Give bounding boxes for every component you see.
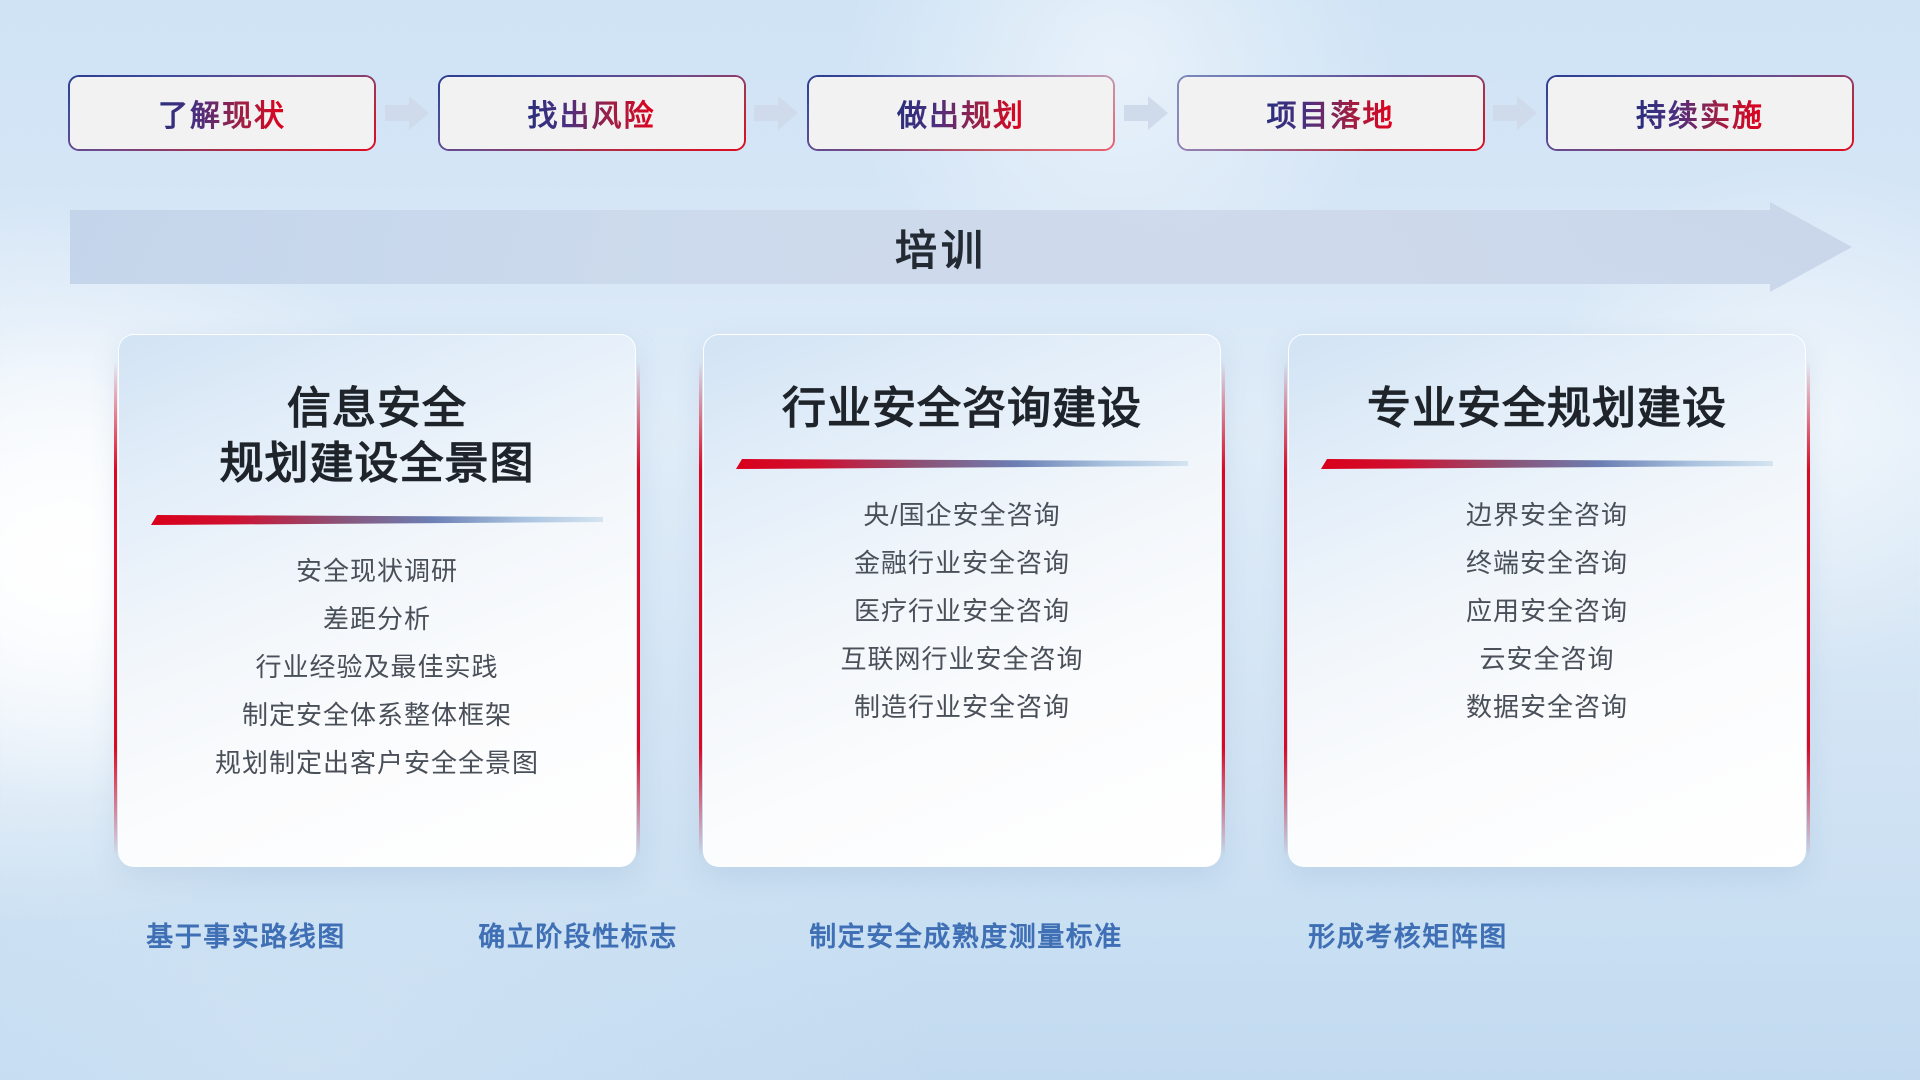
service-card-list-item[interactable]: 央/国企安全咨询: [863, 496, 1060, 535]
flow-step-label: 项目落地: [1267, 91, 1395, 135]
service-card-surface: 信息安全 规划建设全景图安全现状调研差距分析行业经验及最佳实践制定安全体系整体框…: [118, 334, 636, 867]
bottom-caption-2: 确立阶段性标志: [478, 915, 678, 954]
service-card-list-item[interactable]: 医疗行业安全咨询: [854, 592, 1070, 631]
flow-step-label: 做出规划: [897, 91, 1025, 135]
service-card-list-item[interactable]: 互联网行业安全咨询: [840, 640, 1083, 679]
flow-step-5[interactable]: 持续实施: [1548, 77, 1852, 149]
bottom-captions-row: 基于事实路线图确立阶段性标志制定安全成熟度测量标准形成考核矩阵图: [0, 915, 1920, 961]
card-accent-stripe-left: [114, 362, 117, 856]
card-accent-stripe-right: [1222, 362, 1225, 856]
service-card-list-item[interactable]: 行业经验及最佳实践: [255, 648, 498, 687]
flow-step-2[interactable]: 找出风险: [440, 77, 744, 149]
card-divider-wedge: [1321, 456, 1773, 474]
flow-step-3[interactable]: 做出规划: [809, 77, 1113, 149]
flow-step-4[interactable]: 项目落地: [1179, 77, 1483, 149]
process-flow-row: 了解现状找出风险做出规划项目落地持续实施: [70, 77, 1852, 149]
service-card-2[interactable]: 行业安全咨询建设央/国企安全咨询金融行业安全咨询医疗行业安全咨询互联网行业安全咨…: [697, 334, 1227, 874]
card-accent-stripe-left: [1284, 362, 1287, 856]
service-card-list-item[interactable]: 终端安全咨询: [1466, 544, 1628, 583]
training-band-label: 培训: [70, 202, 1852, 292]
service-card-list-item[interactable]: 差距分析: [323, 600, 431, 639]
service-card-list-item[interactable]: 制造行业安全咨询: [854, 688, 1070, 727]
service-card-list-item[interactable]: 边界安全咨询: [1466, 496, 1628, 535]
chevron-right-arrow-icon: [744, 96, 810, 130]
card-accent-stripe-right: [637, 362, 640, 856]
chevron-right-arrow-icon: [1483, 96, 1549, 130]
flow-step-1[interactable]: 了解现状: [70, 77, 374, 149]
chevron-right-arrow-icon: [1113, 96, 1179, 130]
service-card-list-item[interactable]: 安全现状调研: [296, 552, 458, 591]
chevron-right-arrow-icon: [374, 96, 440, 130]
service-card-surface: 行业安全咨询建设央/国企安全咨询金融行业安全咨询医疗行业安全咨询互联网行业安全咨…: [703, 334, 1221, 867]
service-card-list: 边界安全咨询终端安全咨询应用安全咨询云安全咨询数据安全咨询: [1289, 496, 1805, 727]
service-card-list-item[interactable]: 金融行业安全咨询: [854, 544, 1070, 583]
service-card-title: 专业安全规划建设: [1367, 381, 1727, 436]
service-card-title: 信息安全 规划建设全景图: [220, 381, 535, 492]
bottom-caption-4: 形成考核矩阵图: [1308, 915, 1508, 954]
service-card-1[interactable]: 信息安全 规划建设全景图安全现状调研差距分析行业经验及最佳实践制定安全体系整体框…: [112, 334, 642, 874]
service-card-list-item[interactable]: 应用安全咨询: [1466, 592, 1628, 631]
card-divider-wedge: [736, 456, 1188, 474]
service-card-list-item[interactable]: 数据安全咨询: [1466, 688, 1628, 727]
service-card-list: 央/国企安全咨询金融行业安全咨询医疗行业安全咨询互联网行业安全咨询制造行业安全咨…: [704, 496, 1220, 727]
service-card-title: 行业安全咨询建设: [782, 381, 1142, 436]
bottom-caption-1: 基于事实路线图: [146, 915, 346, 954]
flow-step-label: 持续实施: [1636, 91, 1764, 135]
card-divider-wedge: [151, 512, 603, 530]
training-band: 培训: [70, 202, 1852, 292]
bottom-caption-3: 制定安全成熟度测量标准: [809, 915, 1123, 954]
service-card-list-item[interactable]: 云安全咨询: [1479, 640, 1614, 679]
card-accent-stripe-left: [699, 362, 702, 856]
service-card-surface: 专业安全规划建设边界安全咨询终端安全咨询应用安全咨询云安全咨询数据安全咨询: [1288, 334, 1806, 867]
flow-step-label: 了解现状: [158, 91, 286, 135]
service-cards-row: 信息安全 规划建设全景图安全现状调研差距分析行业经验及最佳实践制定安全体系整体框…: [112, 334, 1812, 874]
service-card-3[interactable]: 专业安全规划建设边界安全咨询终端安全咨询应用安全咨询云安全咨询数据安全咨询: [1282, 334, 1812, 874]
service-card-list: 安全现状调研差距分析行业经验及最佳实践制定安全体系整体框架规划制定出客户安全全景…: [119, 552, 635, 783]
card-accent-stripe-right: [1807, 362, 1810, 856]
flow-step-label: 找出风险: [528, 91, 656, 135]
service-card-list-item[interactable]: 制定安全体系整体框架: [242, 696, 512, 735]
service-card-list-item[interactable]: 规划制定出客户安全全景图: [215, 744, 539, 783]
